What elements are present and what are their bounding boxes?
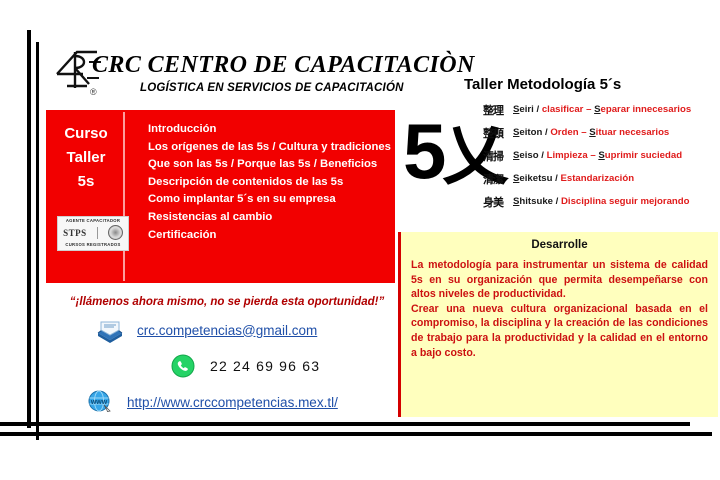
five-s-text: Seiton / Orden – Situar necesarios: [513, 127, 669, 138]
course-line-1: Curso: [50, 122, 122, 146]
topic-item: Como implantar 5´s en su empresa: [148, 191, 392, 209]
seal-divider: [97, 227, 98, 239]
five-s-spanish-2: eparar innecesarios: [601, 104, 692, 115]
registered-mark: ®: [90, 87, 97, 97]
seal-top-text: AGENTE CAPACITADOR: [58, 217, 128, 224]
five-s-separator: /: [539, 150, 547, 161]
seal-bottom-text: CURSOS REGISTRADOS: [58, 241, 128, 248]
five-s-separator: /: [553, 196, 561, 207]
five-s-text: Shitsuke / Disciplina seguir mejorando: [513, 196, 689, 207]
contact-email-row[interactable]: crc.competencias@gmail.com: [95, 316, 317, 344]
course-title-block: Curso Taller 5s: [50, 122, 122, 194]
topic-item: Certificación: [148, 227, 392, 245]
seal-stps-text: STPS: [63, 228, 87, 238]
course-line-3: 5s: [50, 170, 122, 194]
call-to-action-tagline: “¡llámenos ahora mismo, no se pierda est…: [57, 296, 397, 308]
course-panel-divider: [123, 112, 125, 281]
five-s-row: 整理 Seiri / clasificar – Separar innecesa…: [483, 98, 718, 121]
five-s-spanish-1: Orden: [550, 127, 578, 138]
topic-item: Descripción de contenidos de las 5s: [148, 174, 392, 192]
website-link[interactable]: http://www.crccompetencias.mex.tl/: [127, 395, 338, 410]
five-s-kanji: 清掃: [483, 148, 513, 164]
topic-item: Resistencias al cambio: [148, 209, 392, 227]
five-s-kanji: 整頓: [483, 125, 513, 141]
five-s-spanish-2: uprimir suciedad: [605, 150, 682, 161]
develop-paragraph: Crear una nueva cultura organizacional b…: [411, 302, 708, 360]
brand-title: CRC CENTRO DE CAPACITACIÒN: [92, 52, 475, 79]
five-s-romaji: eiso: [519, 150, 538, 161]
develop-panel: Desarrolle La metodología para instrumen…: [398, 232, 718, 417]
five-s-row: 身美 Shitsuke / Disciplina seguir mejorand…: [483, 190, 718, 213]
frame-horizontal-outer-line: [0, 422, 690, 426]
five-s-spanish-1: Limpieza: [547, 150, 588, 161]
five-s-spanish-1: clasificar: [542, 104, 584, 115]
frame-horizontal-inner-line: [0, 432, 712, 436]
contact-website-row[interactable]: www http://www.crccompetencias.mex.tl/: [85, 388, 338, 416]
five-s-romaji: eiton: [519, 127, 542, 138]
five-s-dash: –: [579, 127, 590, 138]
phone-number[interactable]: 22 24 69 96 63: [210, 358, 320, 374]
email-icon: [95, 316, 125, 344]
develop-title: Desarrolle: [411, 239, 708, 251]
whatsapp-icon: [168, 352, 198, 380]
five-s-romaji: hitsuke: [519, 196, 553, 207]
five-s-kanji: 清潔: [483, 171, 513, 187]
five-s-kanji: 整理: [483, 102, 513, 118]
five-s-romaji: eiketsu: [519, 173, 552, 184]
five-s-romaji: eiri: [519, 104, 533, 115]
topic-item: Los orígenes de las 5s / Cultura y tradi…: [148, 139, 392, 157]
five-s-dash: –: [588, 150, 599, 161]
five-s-kanji: 身美: [483, 194, 513, 210]
five-s-spanish-2: ituar necesarios: [596, 127, 670, 138]
five-s-separator: /: [534, 104, 542, 115]
five-s-row: 清掃 Seiso / Limpieza – Suprimir suciedad: [483, 144, 718, 167]
contact-phone-row[interactable]: 22 24 69 96 63: [168, 352, 320, 380]
poster-canvas: ® CRC CENTRO DE CAPACITACIÒN LOGÍSTICA E…: [0, 0, 720, 480]
five-s-spanish-1: Disciplina seguir mejorando: [561, 196, 689, 207]
globe-www-icon: www: [85, 388, 115, 416]
develop-body: La metodología para instrumentar un sist…: [411, 258, 708, 360]
five-s-spanish-1: Estandarización: [560, 173, 634, 184]
svg-text:www: www: [90, 399, 108, 406]
seal-middle: STPS: [58, 224, 128, 241]
frame-vertical-inner-line: [36, 42, 39, 440]
frame-vertical-outer-line: [27, 30, 31, 428]
brand-subtitle: LOGÍSTICA EN SERVICIOS DE CAPACITACIÓN: [140, 82, 404, 94]
five-s-dash: –: [583, 104, 594, 115]
five-s-list: 整理 Seiri / clasificar – Separar innecesa…: [483, 98, 718, 213]
topic-item: Que son las 5s / Porque las 5s / Benefic…: [148, 156, 392, 174]
stps-certification-seal: AGENTE CAPACITADOR STPS CURSOS REGISTRAD…: [57, 216, 129, 251]
five-s-row: 整頓 Seiton / Orden – Situar necesarios: [483, 121, 718, 144]
five-s-text: Seiso / Limpieza – Suprimir suciedad: [513, 150, 682, 161]
seal-emblem-icon: [108, 225, 123, 240]
five-s-text: Seiri / clasificar – Separar innecesario…: [513, 104, 691, 115]
email-link[interactable]: crc.competencias@gmail.com: [137, 323, 317, 338]
course-topic-list: Introducción Los orígenes de las 5s / Cu…: [148, 121, 392, 244]
big-five-number: 5: [403, 107, 442, 195]
develop-paragraph: La metodología para instrumentar un sist…: [411, 258, 708, 302]
five-s-row: 清潔 Seiketsu / Estandarización: [483, 167, 718, 190]
five-s-text: Seiketsu / Estandarización: [513, 173, 634, 184]
methodology-title: Taller Metodología 5´s: [464, 76, 621, 93]
course-line-2: Taller: [50, 146, 122, 170]
topic-item: Introducción: [148, 121, 392, 139]
